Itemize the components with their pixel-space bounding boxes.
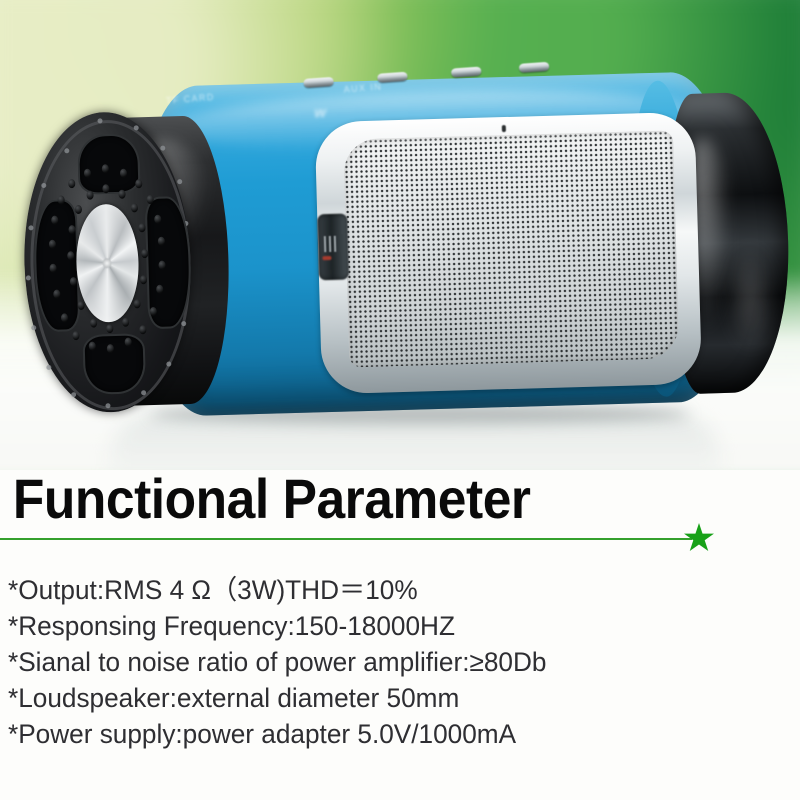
dimple xyxy=(106,324,113,333)
rivet xyxy=(160,146,165,151)
dimple xyxy=(107,344,114,353)
control-button-3[interactable] xyxy=(451,67,482,78)
microphone-pinhole-icon xyxy=(502,125,506,132)
rivet xyxy=(41,183,46,188)
dimple xyxy=(68,179,75,188)
control-button-1[interactable] xyxy=(303,77,334,88)
dimple xyxy=(84,169,91,178)
rivet xyxy=(97,118,102,123)
rivet xyxy=(46,365,51,370)
spec-item-power: *Power supply:power adapter 5.0V/1000mA xyxy=(8,716,784,752)
rivet xyxy=(141,390,146,395)
rivet xyxy=(28,225,33,230)
rivet xyxy=(181,321,186,326)
dimple xyxy=(67,251,74,260)
dimple xyxy=(102,184,109,193)
dimple xyxy=(141,249,148,258)
spec-list: *Output:RMS 4 Ω（3W)THD＝10% *Responsing F… xyxy=(0,572,800,752)
left-driver-end-cap xyxy=(20,109,224,414)
dimple xyxy=(49,240,56,249)
dimple xyxy=(58,195,65,204)
product-photo: TF CARD AUX IN w xyxy=(0,0,800,470)
dimple xyxy=(158,261,165,270)
control-button-2[interactable] xyxy=(377,72,408,83)
dimple xyxy=(154,215,161,224)
brand-logo: w xyxy=(314,104,326,121)
dimple xyxy=(68,225,75,234)
dimple xyxy=(89,342,96,351)
heading-block: Functional Parameter xyxy=(0,468,800,530)
rivet xyxy=(31,325,36,330)
dimple xyxy=(53,290,60,299)
page-title: Functional Parameter xyxy=(0,468,736,530)
dimple xyxy=(122,318,129,327)
dimple xyxy=(139,325,146,334)
dimple xyxy=(138,223,145,232)
control-button-4[interactable] xyxy=(519,62,550,73)
dimple xyxy=(135,179,142,188)
dimple xyxy=(75,205,82,214)
dimple xyxy=(134,299,141,308)
rivet xyxy=(64,148,69,153)
dimple xyxy=(156,285,163,294)
green-divider-rule xyxy=(0,538,692,540)
status-led-indicator xyxy=(322,256,331,260)
perforated-metal-speaker-grille xyxy=(343,130,679,367)
dimple xyxy=(125,338,132,347)
spec-item-snr: *Sianal to noise ratio of power amplifie… xyxy=(8,644,784,680)
spec-item-output: *Output:RMS 4 Ω（3W)THD＝10% xyxy=(8,572,784,608)
dimple xyxy=(102,164,109,173)
dimple xyxy=(147,195,154,204)
rivet xyxy=(26,275,31,280)
dimple xyxy=(78,301,85,310)
usb-port-pins xyxy=(324,236,340,252)
spec-item-loudspeaker: *Loudspeaker:external diameter 50mm xyxy=(8,680,784,716)
dimple xyxy=(158,237,165,246)
rivet xyxy=(177,179,182,184)
heading-divider-block xyxy=(0,534,800,568)
product-spec-page: TF CARD AUX IN w xyxy=(0,0,800,800)
dimple xyxy=(131,203,138,212)
rivet xyxy=(105,403,110,408)
rivet xyxy=(71,392,76,397)
dimple xyxy=(86,191,93,200)
rivet xyxy=(134,125,139,130)
speaker-unit: TF CARD AUX IN w xyxy=(13,51,789,432)
spec-item-frequency: *Responsing Frequency:150-18000HZ xyxy=(8,608,784,644)
